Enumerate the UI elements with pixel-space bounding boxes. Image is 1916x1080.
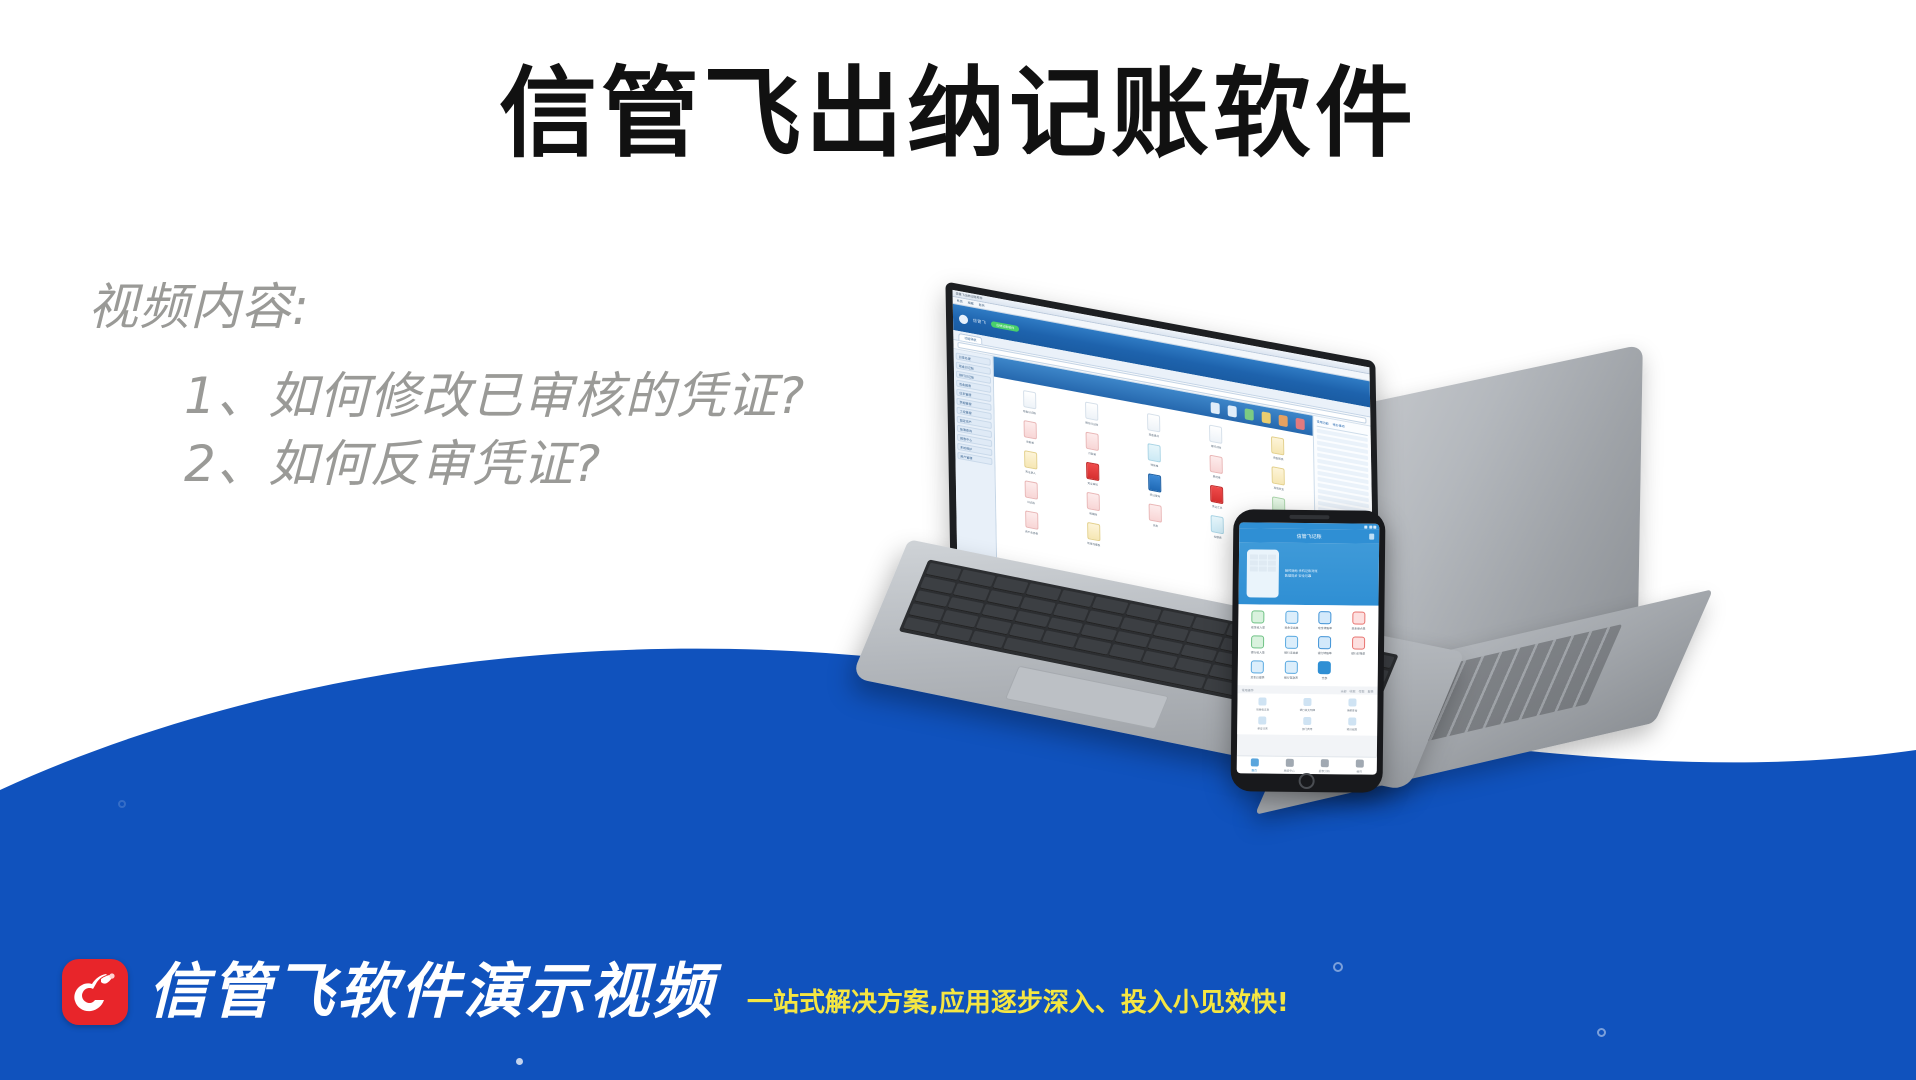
phone-card[interactable]: 余额查询 [1331, 698, 1374, 712]
card-icon [1259, 716, 1267, 724]
section-tab[interactable]: 全部 [1340, 689, 1346, 693]
转账单-icon [1319, 611, 1332, 624]
app-tile-icon [1086, 492, 1099, 511]
content-list: 1、如何修改已审核的凭证? 2、如何反审凭证? [88, 362, 805, 498]
device-mockups: 信管飞出纳记账软件 系统 档案 账务 信管飞 出纳记账软件 功能导航 [880, 380, 1916, 940]
card-icon [1348, 717, 1356, 725]
grid-icon-label: 收款单 [1026, 440, 1034, 445]
银行收入单-icon [1251, 635, 1264, 648]
phone-icon-label: 现金支出单 [1284, 626, 1298, 630]
banner-line-2: 数据同步 安全可靠 [1285, 574, 1311, 578]
section-tabs[interactable]: 全部 收款 付款 报表 [1340, 689, 1373, 693]
app-tile-icon [1211, 515, 1224, 534]
app-tile-icon [1149, 503, 1162, 522]
导出-icon[interactable] [1279, 414, 1288, 427]
app-tile-icon [1024, 480, 1037, 499]
phone-grid-icon[interactable]: 银行支出单 [1275, 636, 1307, 655]
phone-grid-icon[interactable]: 银行对账单 [1342, 636, 1374, 655]
right-panel-tab[interactable]: 待办事项 [1333, 423, 1345, 429]
grid-icon-label: 银行对账 [1211, 444, 1221, 450]
app-tile-icon [1148, 473, 1161, 492]
银行存款表-icon [1285, 661, 1298, 674]
list-item-number: 1、 [184, 367, 268, 425]
phone-icon-label: 银行存款表 [1284, 676, 1298, 680]
银行支出单-icon [1285, 636, 1298, 649]
phone-speaker [1289, 515, 1329, 519]
资金日报表-icon [1251, 660, 1264, 673]
content-heading: 视频内容: [88, 282, 805, 332]
grid-icon-label: 转账单 [1150, 463, 1158, 468]
app-sidebar[interactable]: 日常处理 现金日记账 银行日记账 资金报表 往来管理 票据管理 工资管理 固定资… [954, 349, 998, 576]
app-tile-icon [1209, 425, 1222, 444]
page-title: 信管飞出纳记账软件 [0, 58, 1916, 171]
银行对账单-icon [1352, 636, 1365, 649]
grid-icon-label: 资产负债表 [1025, 529, 1038, 535]
app-tile-icon [1271, 436, 1284, 455]
grid-icon-label: 现金流量表 [1087, 541, 1100, 547]
decorative-dot [516, 1058, 523, 1065]
tab-profile[interactable]: 我的 [1342, 757, 1377, 774]
brand-name: 信管飞软件演示视频 [148, 962, 715, 1022]
doc-icon [1285, 758, 1293, 766]
phone-grid-icon[interactable]: 全部 [1309, 661, 1341, 680]
decorative-dot [118, 800, 126, 808]
phone-app-header: 信管飞记账 [1239, 528, 1379, 543]
grid-icon-label: 凭证审核 [1088, 481, 1098, 487]
收入单-icon [1252, 610, 1265, 623]
list-item: 2、如何反审凭证? [184, 430, 805, 498]
tab-reports[interactable]: 报表分析 [1307, 757, 1342, 774]
phone-card-grid[interactable]: 现金收支表 银行收支明细 余额查询 单位往来 部门费用 项目核算 [1237, 693, 1377, 735]
phone-grid-icon[interactable]: 现金盘点单 [1343, 611, 1375, 630]
grid-icon-label: 明细账 [1089, 511, 1097, 516]
phone-card[interactable]: 现金收支表 [1241, 697, 1284, 711]
grid-icon[interactable]: 资产负债表 [1002, 506, 1061, 543]
phone-grid-icon[interactable]: 资金日报表 [1242, 660, 1274, 679]
grid-icon-label: 其他收支 [1274, 486, 1284, 492]
card-label: 项目核算 [1347, 727, 1357, 731]
phone-banner: 随时随地 手机记账对账 数据同步 安全可靠 [1238, 542, 1379, 605]
right-panel-tab[interactable]: 常用功能 [1317, 420, 1329, 426]
grid-all-icon [1318, 661, 1331, 674]
wifi-icon [1369, 525, 1372, 528]
grid-icon[interactable]: 现金流量表 [1064, 518, 1123, 555]
tab-label: 单据中心 [1284, 768, 1295, 772]
保存-icon[interactable] [1228, 405, 1237, 418]
tab-home[interactable]: 首页 [1237, 756, 1272, 773]
card-icon [1259, 697, 1267, 705]
section-tab[interactable]: 收款 [1350, 689, 1356, 693]
grid-icon-label: 凭证录入 [1025, 469, 1035, 475]
footer-brand: 信管飞软件演示视频 一站式解决方案,应用逐步深入、投入小见效快! [62, 959, 1289, 1025]
app-tile-icon [1148, 443, 1161, 462]
tab-label: 报表分析 [1319, 769, 1330, 773]
app-tile-icon [1085, 432, 1098, 451]
app-tile-icon [1147, 413, 1160, 432]
hamburger-icon[interactable] [1369, 534, 1374, 540]
phone-icon-label: 现金盘点单 [1351, 626, 1365, 630]
person-icon [1355, 759, 1363, 767]
app-tile-icon [1024, 450, 1037, 469]
banner-line-1: 随时随地 手机记账对账 [1285, 569, 1318, 573]
grid-icon-label: 凭证查询 [1150, 493, 1160, 499]
phone-grid-icon[interactable]: 银行转账单 [1309, 636, 1341, 655]
phone-icon-label: 银行转账单 [1318, 651, 1332, 655]
decorative-dot [1333, 962, 1343, 972]
banner-keypad-icon [1250, 554, 1276, 571]
tab-documents[interactable]: 单据中心 [1272, 757, 1307, 774]
card-icon [1348, 698, 1356, 706]
list-item-text: 如何反审凭证? [268, 435, 602, 493]
app-tile-icon [1023, 420, 1036, 439]
dove-logo-icon [62, 959, 128, 1025]
card-icon [1303, 698, 1311, 706]
card-label: 单位往来 [1257, 726, 1267, 730]
phone-grid-icon[interactable]: 银行存款表 [1275, 661, 1307, 680]
section-tab[interactable]: 付款 [1359, 690, 1365, 694]
新增-icon[interactable] [1211, 401, 1220, 414]
app-tile-icon [1085, 401, 1098, 420]
card-label: 余额查询 [1347, 708, 1357, 712]
盘点单-icon [1352, 611, 1365, 624]
app-logo-icon [959, 314, 968, 325]
list-item: 1、如何修改已审核的凭证? [184, 362, 805, 430]
设置-icon[interactable] [1296, 417, 1305, 430]
phone-grid-icon[interactable]: 现金转账单 [1309, 611, 1341, 630]
slide-canvas: 信管飞出纳记账软件 视频内容: 1、如何修改已审核的凭证? 2、如何反审凭证? … [0, 0, 1916, 1080]
banner-device-icon [1247, 549, 1280, 597]
grid-icon-label: 总账 [1153, 523, 1158, 528]
grid-icon-label: 现金盘点 [1149, 432, 1159, 438]
phone-icon-label: 资金日报表 [1250, 675, 1264, 679]
grid-icon-label: 资金报表 [1273, 455, 1283, 461]
video-content-block: 视频内容: 1、如何修改已审核的凭证? 2、如何反审凭证? [88, 282, 805, 498]
app-banner-pill: 出纳记账软件 [991, 321, 1019, 332]
grid-icon-label: 余额表 [1214, 534, 1222, 539]
支出单-icon [1285, 611, 1298, 624]
battery-icon [1373, 525, 1376, 528]
phone-grid-icon[interactable]: 银行收入单 [1242, 635, 1274, 654]
phone-card[interactable]: 部门费用 [1286, 717, 1329, 731]
phone-card[interactable]: 单位往来 [1241, 716, 1284, 730]
app-tile-icon [1210, 455, 1223, 474]
grid-icon-label: 费用单 [1213, 474, 1221, 479]
phone-function-grid[interactable]: 现金收入单 现金支出单 现金转账单 现金盘点单 银行收入单 银行支出单 银行转账… [1238, 604, 1379, 686]
phone-screen: 信管飞记账 随时随地 手机记账对账 数据同步 安全可靠 现金收入单 现金支出单 [1237, 522, 1380, 774]
打印-icon[interactable] [1262, 411, 1271, 424]
grid-icon[interactable]: 总账 [1126, 499, 1185, 536]
app-tile-icon [1086, 462, 1099, 481]
phone-mockup: 信管飞记账 随时随地 手机记账对账 数据同步 安全可靠 现金收入单 现金支出单 [1231, 509, 1386, 793]
grid-icon-label: 银行日记账 [1085, 421, 1098, 427]
app-tile-icon [1087, 522, 1100, 541]
phone-card[interactable]: 项目核算 [1330, 717, 1373, 731]
card-label: 部门费用 [1302, 727, 1312, 731]
app-tile-icon [1023, 390, 1036, 409]
phone-icon-label: 全部 [1322, 676, 1328, 680]
phone-grid-icon[interactable]: 现金支出单 [1276, 611, 1308, 630]
section-tab[interactable]: 报表 [1368, 690, 1374, 694]
phone-icon-label: 现金收入单 [1251, 625, 1265, 629]
section-title: 常用操作 [1242, 688, 1254, 692]
审核-icon[interactable] [1245, 408, 1254, 421]
home-icon [1250, 758, 1258, 766]
tab-label: 我的 [1356, 769, 1362, 773]
menu-item[interactable]: 档案 [968, 301, 974, 306]
grid-icon-label: 现金日记账 [1023, 409, 1036, 415]
银行转账单-icon [1318, 636, 1331, 649]
phone-icon-label: 现金转账单 [1318, 626, 1332, 630]
card-label: 银行收支明细 [1300, 708, 1316, 712]
menu-item[interactable]: 系统 [957, 299, 963, 304]
phone-tabbar[interactable]: 首页 单据中心 报表分析 我的 [1237, 755, 1377, 774]
phone-icon-label: 银行对账单 [1351, 651, 1365, 655]
phone-card[interactable]: 银行收支明细 [1286, 698, 1329, 712]
brand-tagline: 一站式解决方案,应用逐步深入、投入小见效快! [747, 982, 1289, 1025]
card-icon [1303, 717, 1311, 725]
banner-text: 随时随地 手机记账对账 数据同步 安全可靠 [1285, 569, 1318, 579]
phone-grid-icon[interactable]: 现金收入单 [1242, 610, 1274, 629]
signal-icon [1364, 525, 1367, 528]
decorative-dot [1597, 1028, 1606, 1037]
phone-app-title: 信管飞记账 [1297, 532, 1322, 539]
grid-icon-label: 日记账 [1027, 500, 1035, 505]
home-button[interactable] [1299, 773, 1315, 789]
app-tile-icon [1025, 510, 1038, 529]
menu-item[interactable]: 账务 [979, 303, 985, 308]
grid-icon-label: 凭证汇总 [1212, 504, 1222, 510]
grid-icon-label: 付款单 [1088, 451, 1096, 456]
app-tile-icon [1272, 466, 1285, 485]
list-item-number: 2、 [184, 435, 268, 493]
phone-icon-label: 银行支出单 [1284, 651, 1298, 655]
card-label: 现金收支表 [1256, 707, 1269, 711]
chart-icon [1320, 759, 1328, 767]
phone-icon-label: 银行收入单 [1251, 650, 1265, 654]
app-banner-brand: 信管飞 [973, 318, 986, 326]
tab-label: 首页 [1251, 768, 1257, 772]
list-item-text: 如何修改已审核的凭证? [268, 367, 806, 425]
app-tile-icon [1210, 485, 1223, 504]
